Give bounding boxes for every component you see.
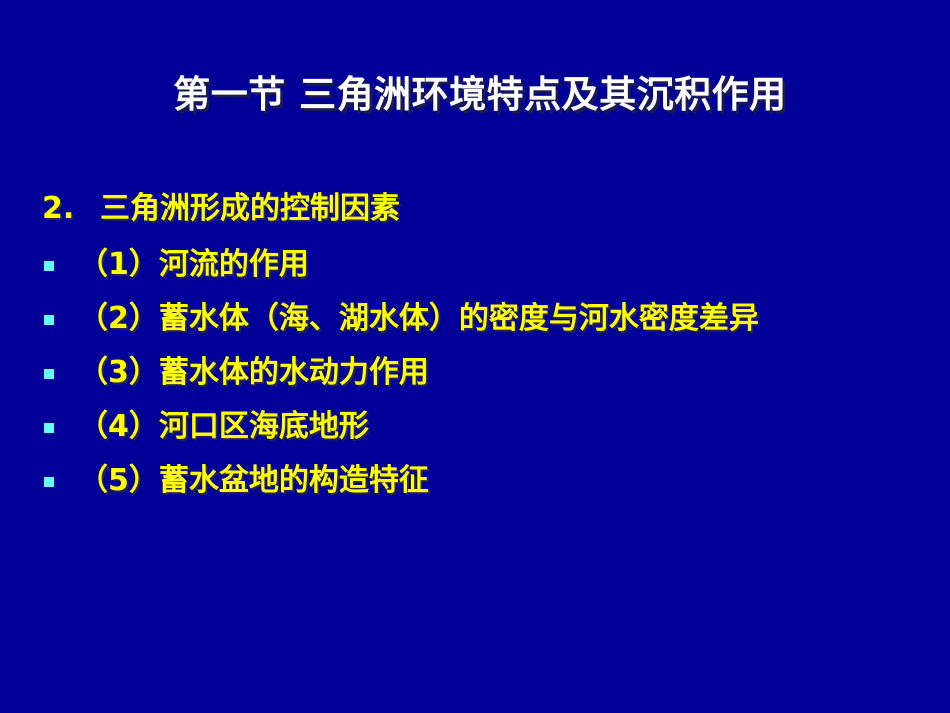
- list-item-label: （3）蓄水体的水动力作用: [78, 347, 920, 399]
- square-bullet-icon: [44, 423, 54, 433]
- slide-title: 第一节 三角洲环境特点及其沉积作用: [60, 72, 900, 118]
- list-item: （2）蓄水体（海、湖水体）的密度与河水密度差异: [40, 293, 920, 345]
- list-item-label: （2）蓄水体（海、湖水体）的密度与河水密度差异: [78, 293, 920, 345]
- list-item: 2. 三角洲形成的控制因素: [40, 183, 920, 235]
- square-bullet-icon: [44, 315, 54, 325]
- bullet-cell: [40, 347, 78, 379]
- bullet-cell: [40, 293, 78, 325]
- square-bullet-icon: [44, 261, 54, 271]
- list-item-number: 2.: [40, 183, 78, 235]
- list-item: （3）蓄水体的水动力作用: [40, 347, 920, 399]
- bullet-cell: [40, 239, 78, 271]
- bullet-cell: [40, 401, 78, 433]
- list-item-label: （4）河口区海底地形: [78, 401, 920, 453]
- presentation-slide: 第一节 三角洲环境特点及其沉积作用 2. 三角洲形成的控制因素 （1）河流的作用…: [0, 0, 950, 713]
- list-item: （4）河口区海底地形: [40, 401, 920, 453]
- list-item: （1）河流的作用: [40, 239, 920, 291]
- list-item-label: （5）蓄水盆地的构造特征: [78, 455, 920, 507]
- square-bullet-icon: [44, 369, 54, 379]
- list-item-label: 三角洲形成的控制因素: [78, 183, 920, 235]
- list-item: （5）蓄水盆地的构造特征: [40, 455, 920, 507]
- slide-body-list: 2. 三角洲形成的控制因素 （1）河流的作用 （2）蓄水体（海、湖水体）的密度与…: [40, 183, 920, 509]
- bullet-cell: [40, 455, 78, 487]
- square-bullet-icon: [44, 477, 54, 487]
- list-item-label: （1）河流的作用: [78, 239, 920, 291]
